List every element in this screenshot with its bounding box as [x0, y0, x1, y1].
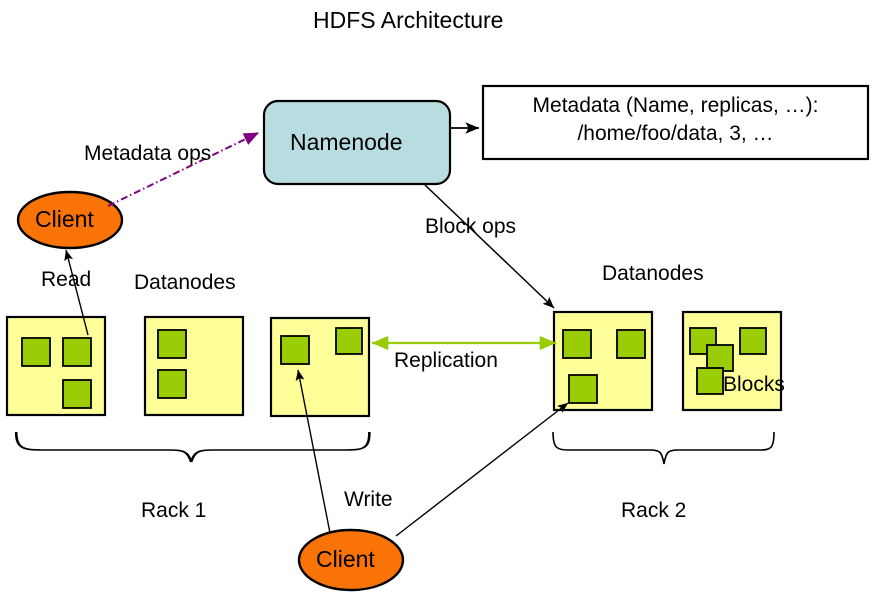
datanode-rack2-dn1[interactable] — [554, 312, 652, 410]
block-2[interactable] — [617, 330, 645, 358]
diagram-canvas — [0, 0, 874, 604]
blocks-label: Blocks — [723, 374, 785, 395]
block-1[interactable] — [281, 336, 309, 364]
connector-write-rack2 — [396, 403, 568, 536]
block-3[interactable] — [569, 375, 597, 403]
datanodes-label-left: Datanodes — [134, 272, 236, 293]
rack1-brace — [16, 432, 369, 462]
block-1[interactable] — [158, 330, 186, 358]
block-1[interactable] — [563, 330, 591, 358]
rack1-label: Rack 1 — [141, 500, 206, 521]
read-label: Read — [41, 269, 91, 290]
write-label: Write — [344, 489, 393, 510]
replication-label: Replication — [394, 350, 498, 371]
datanode-rack1-dn3[interactable] — [271, 318, 369, 416]
metadata-line-2: /home/foo/data, 3, … — [483, 121, 868, 147]
metadata-ops-label: Metadata ops — [84, 143, 211, 164]
datanodes-label-right: Datanodes — [602, 263, 704, 284]
datanode-rack1-dn1[interactable] — [7, 317, 105, 415]
client-top-label: Client — [35, 208, 94, 231]
client-bottom-label: Client — [316, 548, 375, 571]
block-2[interactable] — [158, 370, 186, 398]
page-title: HDFS Architecture — [313, 9, 503, 32]
rack2-brace — [553, 432, 774, 464]
connector-block-ops — [425, 185, 554, 308]
hdfs-architecture-diagram: HDFS Architecture Namenode Metadata (Nam… — [0, 0, 874, 604]
block-2[interactable] — [336, 328, 362, 354]
datanode-rack1-dn2[interactable] — [145, 317, 243, 415]
block-1[interactable] — [22, 338, 50, 366]
block-2[interactable] — [740, 328, 766, 354]
block-2[interactable] — [63, 338, 91, 366]
block-ops-label: Block ops — [425, 216, 516, 237]
metadata-line-1: Metadata (Name, replicas, …): — [483, 93, 868, 119]
namenode-label: Namenode — [290, 131, 403, 154]
rack2-label: Rack 2 — [621, 500, 686, 521]
block-3[interactable] — [63, 380, 91, 408]
block-4[interactable] — [697, 368, 723, 394]
